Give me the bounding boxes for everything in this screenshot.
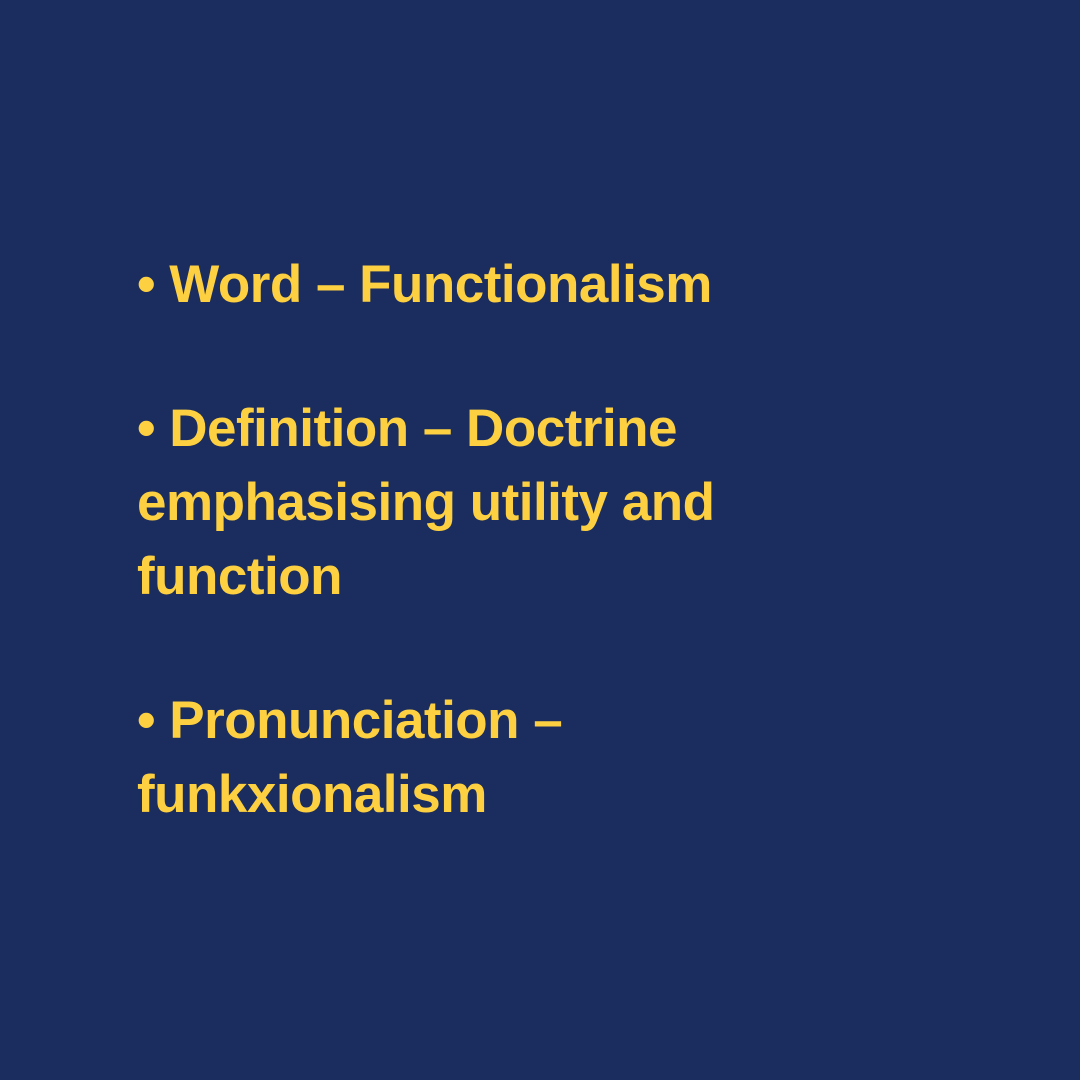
- entry-pronunciation: •• Pronunciation – funkxionalism: [137, 684, 787, 832]
- entry-word-text: • Word – Functionalism: [137, 255, 712, 314]
- entry-pronunciation-text: • Pronunciation – funkxionalism: [137, 691, 562, 824]
- entry-definition-text: • Definition – Doctrine emphasising util…: [137, 399, 714, 606]
- entry-definition: •• Definition – Doctrine emphasising uti…: [137, 392, 787, 614]
- entry-list: •• Word – Functionalism •• Definition – …: [137, 248, 787, 832]
- entry-word: •• Word – Functionalism: [137, 248, 787, 322]
- word-of-the-day-card: •• Word – Functionalism •• Definition – …: [0, 0, 1080, 1080]
